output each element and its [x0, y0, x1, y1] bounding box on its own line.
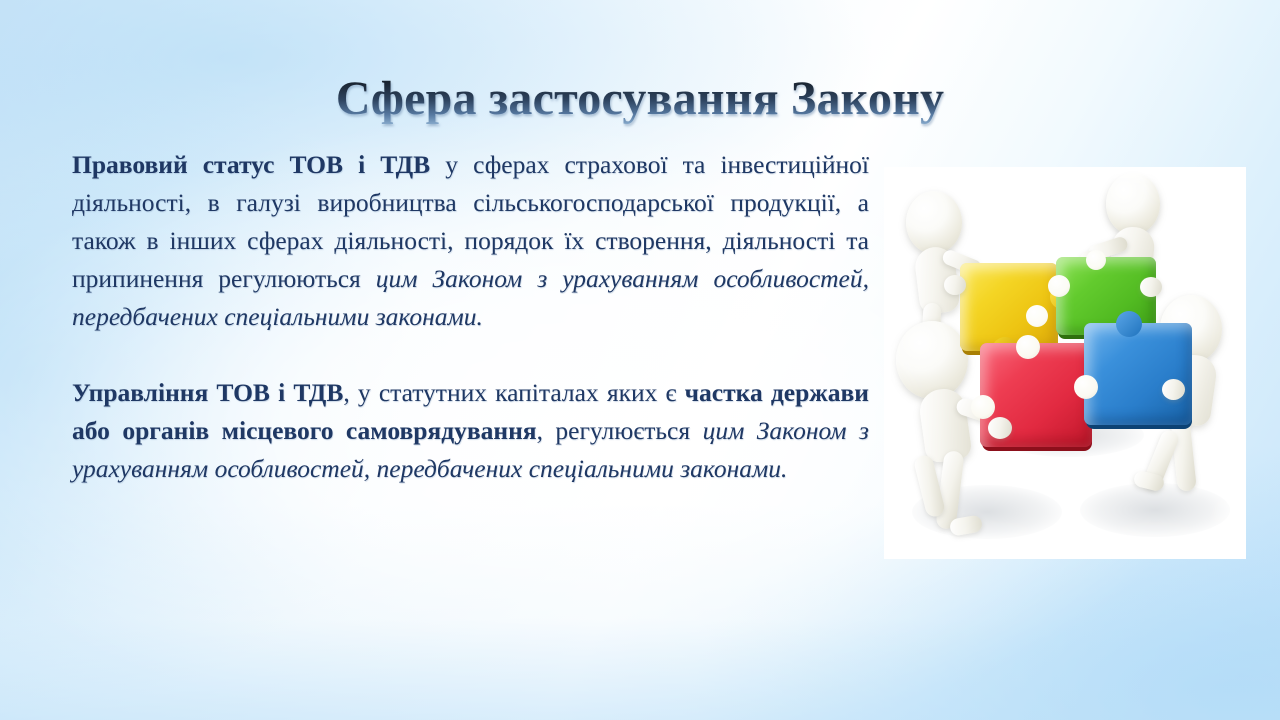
hand-top-right-holding: [1140, 277, 1162, 297]
puzzle-piece-blue: [1084, 323, 1192, 425]
puzzle-piece-green-notch-top: [1086, 250, 1106, 270]
paragraph-2-bold-lead: Управління ТОВ і ТДВ: [72, 378, 343, 407]
puzzle-piece-blue-notch-left: [1074, 375, 1098, 399]
paragraph-2-normal-run-1: , у статутних капіталах яких є: [343, 378, 684, 407]
puzzle-scene: [884, 167, 1246, 559]
paragraph-1-bold-lead: Правовий статус ТОВ і ТДВ: [72, 150, 430, 179]
shadow-blob-right: [1080, 483, 1230, 537]
teamwork-puzzle-illustration: [884, 167, 1246, 559]
paragraph-1: Правовий статус ТОВ і ТДВ у сферах страх…: [72, 146, 869, 336]
slide: Сфера застосування Закону Правовий стату…: [0, 0, 1280, 720]
paragraph-2-normal-run-2: , регулюється: [537, 416, 703, 445]
puzzle-piece-blue-face: [1084, 323, 1192, 425]
figure-bottom-left-head: [896, 321, 968, 399]
puzzle-piece-red-notch-top: [1016, 335, 1040, 359]
hand-bottom-left-holding: [988, 417, 1012, 439]
puzzle-piece-green-notch-left: [1048, 275, 1070, 297]
hand-top-left-holding: [944, 275, 966, 295]
body-text-column: Правовий статус ТОВ і ТДВ у сферах страх…: [72, 146, 869, 488]
puzzle-piece-red-notch-left: [971, 395, 995, 419]
figure-top-left-head: [906, 191, 962, 254]
paragraph-2: Управління ТОВ і ТДВ, у статутних капіта…: [72, 374, 869, 488]
puzzle-piece-blue-knob-top: [1116, 311, 1142, 337]
slide-title: Сфера застосування Закону: [0, 72, 1280, 126]
puzzle-piece-yellow-notch: [1026, 305, 1048, 327]
hand-right-holding: [1162, 379, 1185, 400]
figure-top-right-head: [1106, 173, 1160, 235]
puzzle-piece-yellow: [960, 263, 1058, 351]
